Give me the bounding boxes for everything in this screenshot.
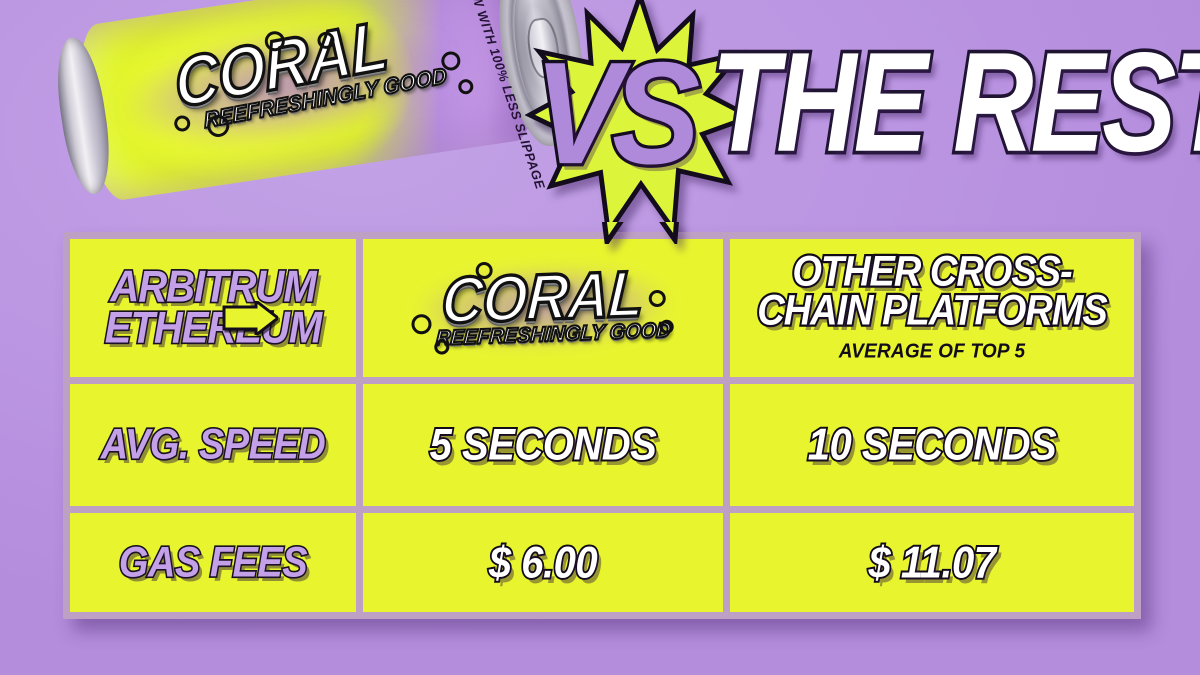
table-row: $ 11.07: [730, 513, 1134, 612]
header-others-line2: CHAIN PLATFORMS: [757, 290, 1107, 334]
row-label-speed: AVG. SPEED: [101, 424, 325, 467]
page-title: THE REST: [711, 31, 1200, 173]
header-ethereum-label: ETHEREUM: [105, 306, 321, 352]
table-row: GAS FEES: [70, 513, 356, 612]
comparison-table: ARBITRUM ETHEREUM CORAL REEFRESHINGLY GO…: [63, 232, 1141, 619]
header-others-subtext: AVERAGE OF TOP 5: [839, 341, 1026, 364]
row-value-others-gas: $ 11.07: [869, 540, 996, 585]
infographic-canvas: CORAL REEFRESHINGLY GOOD NOW WITH 100% L…: [0, 0, 1200, 675]
table-header-cell-others: OTHER CROSS- CHAIN PLATFORMS AVERAGE OF …: [730, 239, 1134, 377]
table-header-cell-chains: ARBITRUM ETHEREUM: [70, 239, 356, 377]
arrow-right-icon: [222, 301, 278, 335]
table-header-cell-coral: CORAL REEFRESHINGLY GOOD: [363, 239, 723, 377]
table-row: $ 6.00: [363, 513, 723, 612]
bubble-icon: [434, 339, 450, 355]
row-value-others-speed: 10 SECONDS: [808, 423, 1056, 468]
coral-logo: CORAL REEFRESHINGLY GOOD: [401, 249, 685, 367]
vs-label: VS: [534, 41, 734, 195]
row-value-coral-speed: 5 SECONDS: [430, 423, 657, 468]
table-row: 5 SECONDS: [363, 384, 723, 506]
bubble-icon: [659, 319, 673, 333]
table-row: 10 SECONDS: [730, 384, 1134, 506]
row-label-gas: GAS FEES: [119, 541, 307, 584]
table-row: AVG. SPEED: [70, 384, 356, 506]
row-value-coral-gas: $ 6.00: [489, 540, 597, 585]
